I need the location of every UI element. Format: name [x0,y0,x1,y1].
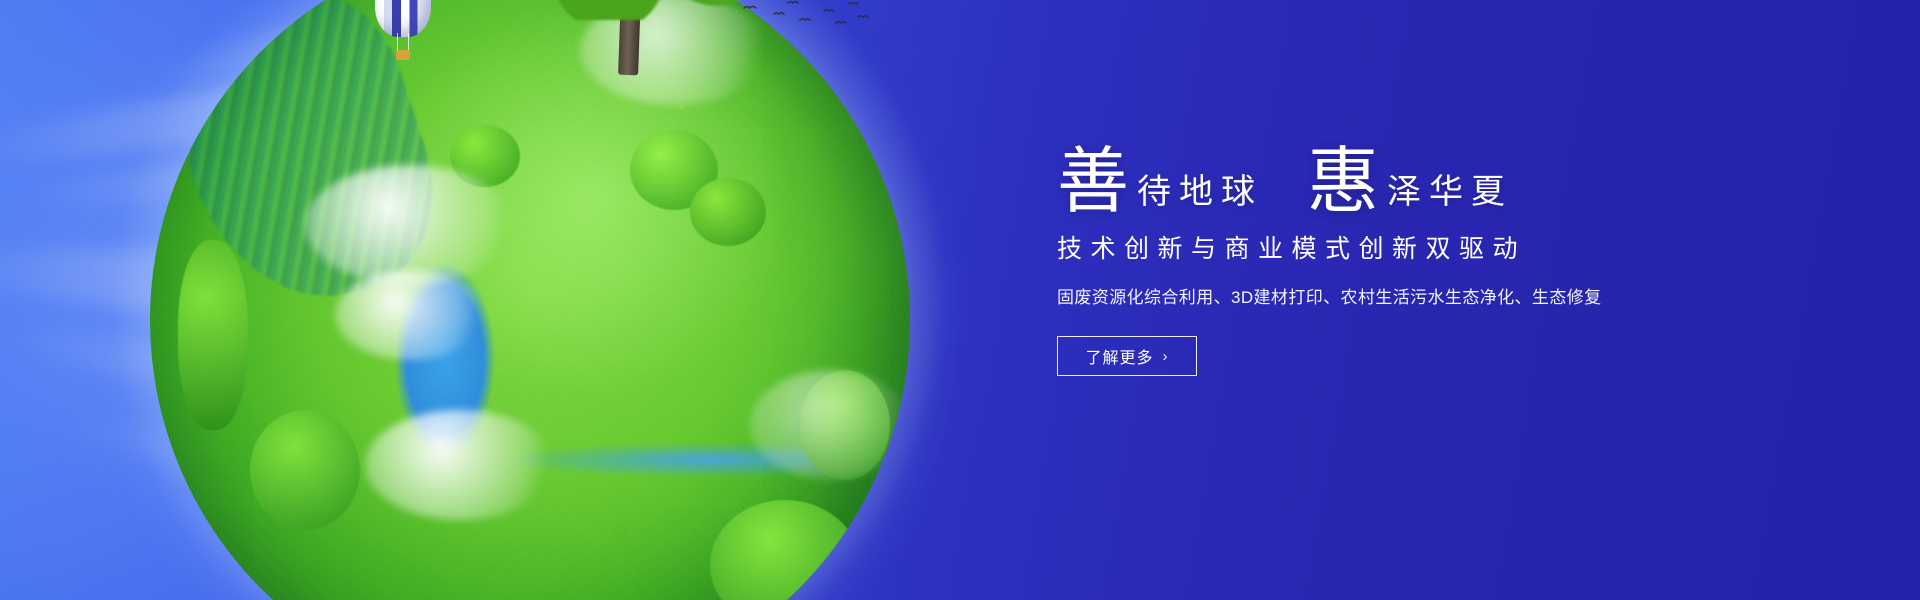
headline-text-secondary-2: 泽华夏 [1379,176,1513,218]
hero-copy: 善 待地球 惠 泽华夏 技术创新与商业模式创新双驱动 固废资源化综合利用、3D建… [1057,138,1697,376]
tree-icon [250,410,360,530]
chevron-right-icon: › [1163,349,1169,364]
page-subtitle: 技术创新与商业模式创新双驱动 [1057,234,1697,264]
tree-canopy [480,0,760,20]
learn-more-button[interactable]: 了解更多 › [1057,336,1197,376]
cloud-shape [335,270,485,360]
page-description: 固废资源化综合利用、3D建材打印、农村生活污水生态净化、生态修复 [1057,286,1697,310]
tiny-planet-globe [150,0,910,600]
hot-air-balloon-icon [375,0,431,65]
balloon-envelope [375,0,431,37]
hero-banner: 善 待地球 惠 泽华夏 技术创新与商业模式创新双驱动 固废资源化综合利用、3D建… [0,0,1920,600]
tree-icon [178,240,248,430]
balloon-lines [397,33,409,51]
learn-more-label: 了解更多 [1085,344,1153,368]
cloud-shape [365,410,555,520]
headline-char-primary-2: 惠 [1307,146,1379,218]
cloud-shape [305,165,515,285]
tree-icon [450,0,770,100]
headline-char-primary-1: 善 [1057,146,1129,218]
tree-icon [690,178,766,246]
page-title: 善 待地球 惠 泽华夏 [1057,138,1697,218]
cloud-shape [750,370,910,480]
headline-text-secondary-1: 待地球 [1129,176,1263,218]
birds-icon [740,0,870,35]
balloon-basket [396,50,410,60]
